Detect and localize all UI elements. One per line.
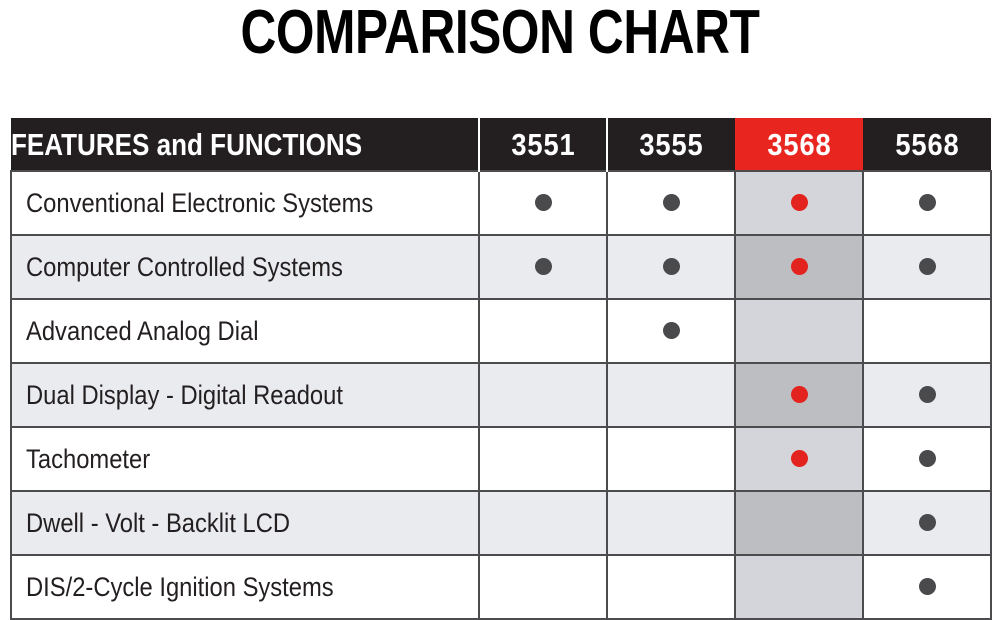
gray-dot-icon — [663, 322, 680, 339]
mark-cell-3555 — [607, 235, 735, 299]
red-dot-icon — [791, 450, 808, 467]
mark-cell-3551 — [479, 491, 607, 555]
mark-cell-3568 — [735, 299, 863, 363]
page-title: COMPARISON CHART — [100, 2, 900, 64]
red-dot-icon — [791, 258, 808, 275]
mark-cell-3568 — [735, 427, 863, 491]
column-header-model-5568: 5568 — [863, 118, 991, 171]
column-header-model-3568: 3568 — [735, 118, 863, 171]
table-row: Dual Display - Digital Readout — [11, 363, 991, 427]
column-header-model-3568-label: 3568 — [767, 129, 831, 160]
feature-cell: Dwell - Volt - Backlit LCD — [11, 491, 479, 555]
comparison-chart-page: COMPARISON CHART FEATURES and FUNCTIONS … — [0, 0, 1000, 602]
mark-cell-5568 — [863, 235, 991, 299]
table-row: Computer Controlled Systems — [11, 235, 991, 299]
red-dot-icon — [791, 386, 808, 403]
feature-label: Computer Controlled Systems — [26, 253, 343, 282]
mark-cell-3568 — [735, 235, 863, 299]
mark-cell-3568 — [735, 171, 863, 235]
gray-dot-icon — [919, 258, 936, 275]
table-row: Dwell - Volt - Backlit LCD — [11, 491, 991, 555]
feature-cell: Advanced Analog Dial — [11, 299, 479, 363]
mark-cell-5568 — [863, 491, 991, 555]
column-header-model-5568-label: 5568 — [895, 129, 959, 160]
column-header-features: FEATURES and FUNCTIONS — [11, 118, 479, 171]
mark-cell-3555 — [607, 363, 735, 427]
comparison-table-container: FEATURES and FUNCTIONS 3551 3555 3568 55… — [10, 118, 990, 620]
feature-cell: Tachometer — [11, 427, 479, 491]
mark-cell-3555 — [607, 555, 735, 619]
mark-cell-5568 — [863, 171, 991, 235]
column-header-model-3555-label: 3555 — [639, 129, 703, 160]
comparison-table: FEATURES and FUNCTIONS 3551 3555 3568 55… — [10, 118, 992, 620]
gray-dot-icon — [919, 386, 936, 403]
gray-dot-icon — [919, 194, 936, 211]
gray-dot-icon — [919, 450, 936, 467]
mark-cell-3555 — [607, 299, 735, 363]
mark-cell-3551 — [479, 299, 607, 363]
table-header: FEATURES and FUNCTIONS 3551 3555 3568 55… — [11, 118, 991, 171]
gray-dot-icon — [919, 578, 936, 595]
mark-cell-3555 — [607, 171, 735, 235]
header-row: FEATURES and FUNCTIONS 3551 3555 3568 55… — [11, 118, 991, 171]
column-header-model-3551-label: 3551 — [511, 129, 575, 160]
feature-cell: Dual Display - Digital Readout — [11, 363, 479, 427]
table-body: Conventional Electronic SystemsComputer … — [11, 171, 991, 619]
feature-cell: Conventional Electronic Systems — [11, 171, 479, 235]
mark-cell-3555 — [607, 427, 735, 491]
gray-dot-icon — [535, 258, 552, 275]
mark-cell-3555 — [607, 491, 735, 555]
table-row: Advanced Analog Dial — [11, 299, 991, 363]
mark-cell-5568 — [863, 427, 991, 491]
mark-cell-5568 — [863, 299, 991, 363]
feature-cell: DIS/2-Cycle Ignition Systems — [11, 555, 479, 619]
mark-cell-3551 — [479, 235, 607, 299]
table-row: Tachometer — [11, 427, 991, 491]
feature-label: Dwell - Volt - Backlit LCD — [26, 509, 290, 538]
mark-cell-5568 — [863, 555, 991, 619]
mark-cell-3551 — [479, 363, 607, 427]
column-header-model-3555: 3555 — [607, 118, 735, 171]
mark-cell-3551 — [479, 555, 607, 619]
feature-label: Advanced Analog Dial — [26, 317, 258, 346]
mark-cell-3551 — [479, 171, 607, 235]
gray-dot-icon — [663, 258, 680, 275]
table-row: DIS/2-Cycle Ignition Systems — [11, 555, 991, 619]
mark-cell-5568 — [863, 363, 991, 427]
table-row: Conventional Electronic Systems — [11, 171, 991, 235]
feature-cell: Computer Controlled Systems — [11, 235, 479, 299]
gray-dot-icon — [535, 194, 552, 211]
feature-label: Conventional Electronic Systems — [26, 189, 373, 218]
mark-cell-3551 — [479, 427, 607, 491]
feature-label: Dual Display - Digital Readout — [26, 381, 343, 410]
mark-cell-3568 — [735, 363, 863, 427]
feature-label: DIS/2-Cycle Ignition Systems — [26, 573, 334, 602]
mark-cell-3568 — [735, 491, 863, 555]
feature-label: Tachometer — [26, 445, 150, 474]
red-dot-icon — [791, 194, 808, 211]
gray-dot-icon — [919, 514, 936, 531]
gray-dot-icon — [663, 194, 680, 211]
mark-cell-3568 — [735, 555, 863, 619]
column-header-model-3551: 3551 — [479, 118, 607, 171]
column-header-features-label: FEATURES and FUNCTIONS — [11, 129, 362, 160]
